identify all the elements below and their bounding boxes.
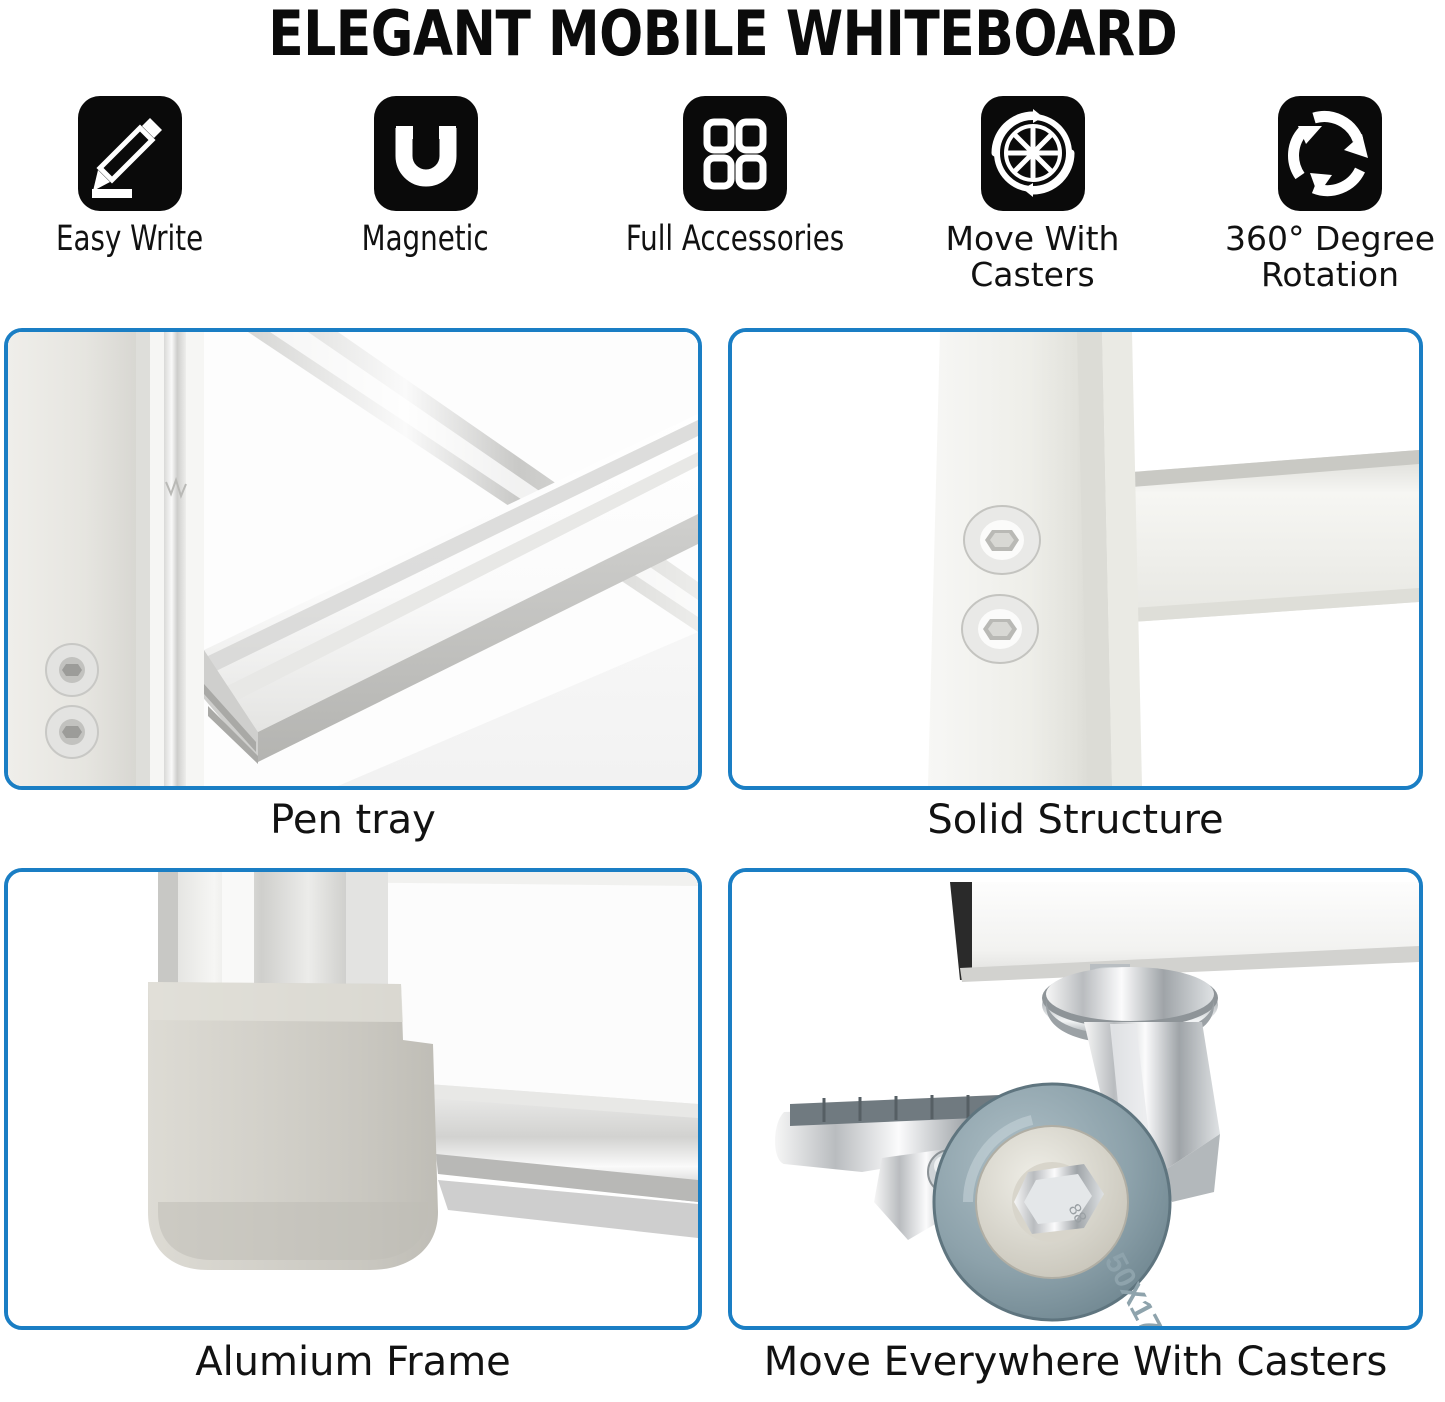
caster-wheel-icon [981, 96, 1085, 211]
feature-item-magnetic: Magnetic [318, 96, 533, 257]
accessories-grid-icon [683, 96, 787, 211]
page-title-container: ELEGANT MOBILE WHITEBOARD [0, 0, 1445, 68]
feature-label-360-rotation: 360° Degree Rotation [1225, 221, 1435, 292]
aluminum-frame-photo [8, 872, 698, 1326]
magnet-icon [374, 96, 478, 211]
panel-caption-solid-structure: Solid Structure [728, 800, 1423, 840]
solid-structure-photo [732, 332, 1419, 786]
feature-label-full-accessories: Full Accessories [626, 221, 844, 257]
page-title: ELEGANT MOBILE WHITEBOARD [268, 3, 1177, 65]
feature-item-360-rotation: 360° Degree Rotation [1215, 96, 1445, 292]
feature-label-magnetic: Magnetic [362, 221, 489, 257]
feature-label-easy-write: Easy Write [56, 221, 203, 257]
pen-tray-photo [8, 332, 698, 786]
panel-caption-casters: Move Everywhere With Casters [728, 1342, 1423, 1382]
feature-label-move-with-casters: Move With Casters [946, 221, 1120, 292]
photo-panel-solid-structure [728, 328, 1423, 790]
caster-photo: 88 50X17 [732, 872, 1419, 1326]
pencil-write-icon [78, 96, 182, 211]
feature-item-easy-write: Easy Write [14, 96, 246, 257]
photo-panel-pen-tray [4, 328, 702, 790]
photo-panel-casters: 88 50X17 [728, 868, 1423, 1330]
panel-caption-aluminum-frame: Alumium Frame [4, 1342, 702, 1382]
rotation-arrows-icon [1278, 96, 1382, 211]
panel-caption-pen-tray: Pen tray [4, 800, 702, 840]
feature-item-move-with-casters: Move With Casters [925, 96, 1140, 292]
photo-panel-aluminum-frame [4, 868, 702, 1330]
feature-icon-row: Easy Write Magnetic [0, 96, 1445, 301]
feature-item-full-accessories: Full Accessories [570, 96, 900, 257]
